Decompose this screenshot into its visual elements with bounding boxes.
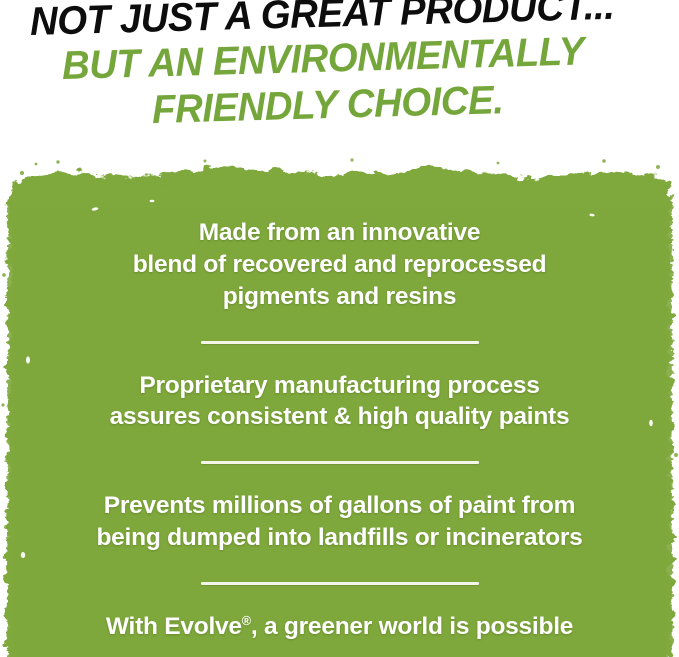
claims-list: Made from an innovative blend of recover…: [0, 155, 679, 657]
claim-divider-1: [201, 341, 479, 344]
claim-line: blend of recovered and reprocessed: [40, 249, 640, 281]
claim-line: being dumped into landfills or incinerat…: [40, 522, 640, 554]
claim-line: Proprietary manufacturing process: [40, 370, 640, 402]
claim-text: Prevents millions of gallons of paint fr…: [40, 490, 640, 554]
claim-item-prevents-waste: Prevents millions of gallons of paint fr…: [40, 490, 640, 554]
claim-line: Prevents millions of gallons of paint fr…: [40, 490, 640, 522]
claim-text: With Evolve®, a greener world is possibl…: [40, 611, 640, 643]
claim-text: Proprietary manufacturing process assure…: [40, 370, 640, 434]
headline-block: NOT JUST A GREAT PRODUCT... BUT AN ENVIR…: [0, 0, 679, 150]
registered-trademark-icon: ®: [242, 613, 251, 628]
claim-tail: , a greener world is possible: [251, 613, 573, 640]
claim-item-greener-world: With Evolve®, a greener world is possibl…: [40, 611, 640, 643]
claim-line: assures consistent & high quality paints: [40, 401, 640, 433]
claim-brand: With Evolve: [106, 613, 242, 640]
claim-line: With Evolve®, a greener world is possibl…: [40, 611, 640, 643]
headline-line-3: FRIENDLY CHOICE.: [151, 80, 503, 130]
claim-divider-3: [201, 582, 479, 585]
claim-text: Made from an innovative blend of recover…: [40, 217, 640, 313]
claim-line: pigments and resins: [40, 281, 640, 313]
claim-item-manufacturing-process: Proprietary manufacturing process assure…: [40, 370, 640, 434]
claim-item-innovative-blend: Made from an innovative blend of recover…: [40, 217, 640, 313]
poster-root: NOT JUST A GREAT PRODUCT... BUT AN ENVIR…: [0, 0, 679, 657]
claim-divider-2: [201, 461, 479, 464]
claim-line: Made from an innovative: [40, 217, 640, 249]
